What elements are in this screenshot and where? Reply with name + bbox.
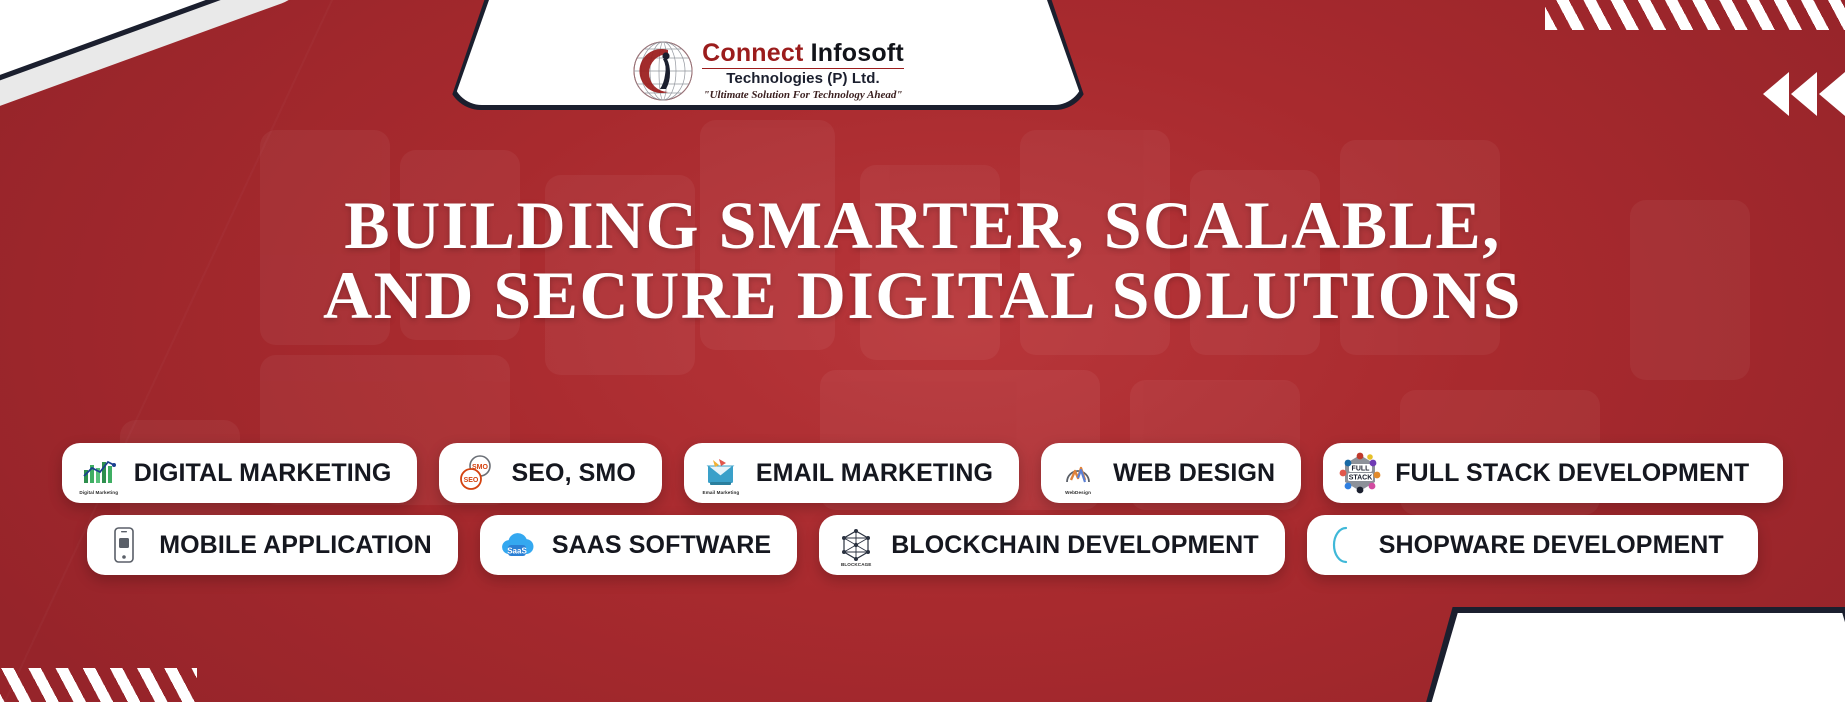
svg-text:FULL: FULL — [1352, 466, 1371, 473]
service-badge-blockchain-development[interactable]: BLOCKCAGE BLOCKCHAIN DEVELOPMENT — [819, 515, 1284, 575]
service-badge-full-stack-development[interactable]: FULL STACK FULL STACK DEVELOPM — [1323, 443, 1783, 503]
service-label: SHOPWARE DEVELOPMENT — [1379, 531, 1724, 560]
service-badges: Digital Marketing DIGITAL MARKETING SMO … — [0, 443, 1845, 575]
globe-logo-icon — [632, 40, 694, 102]
service-badge-mobile-application[interactable]: MOBILE APPLICATION — [87, 515, 458, 575]
svg-text:SEO: SEO — [464, 477, 479, 484]
diagonal-stripes-bottom-left — [0, 668, 197, 702]
promotional-banner: Connect Infosoft Technologies (P) Ltd. "… — [0, 0, 1845, 702]
chevron-left-icon — [1791, 72, 1817, 116]
service-label: SAAS SOFTWARE — [552, 531, 771, 560]
service-label: EMAIL MARKETING — [756, 459, 993, 488]
brand-subtitle: Technologies (P) Ltd. — [726, 70, 879, 87]
brand-name-part1: Connect — [702, 39, 803, 67]
service-label: FULL STACK DEVELOPMENT — [1395, 459, 1749, 488]
headline-line-2: AND SECURE DIGITAL SOLUTIONS — [0, 260, 1845, 330]
mobile-phone-app-icon — [103, 524, 145, 566]
diagonal-stripes-top-right — [1545, 0, 1845, 30]
brand-divider — [702, 68, 904, 70]
icon-caption: WebDesign — [1057, 490, 1099, 495]
logo-panel: Connect Infosoft Technologies (P) Ltd. "… — [447, 0, 1089, 110]
service-badge-shopware-development[interactable]: SHOPWARE DEVELOPMENT — [1307, 515, 1758, 575]
icon-caption: Digital Marketing — [78, 490, 120, 495]
service-badge-row-2: MOBILE APPLICATION SaaS SAAS SOFTWARE — [0, 515, 1845, 575]
seo-smo-badge-icon: SMO SEO — [455, 452, 497, 494]
page-title: BUILDING SMARTER, SCALABLE, AND SECURE D… — [0, 190, 1845, 330]
shopware-bracket-icon — [1323, 524, 1365, 566]
web-design-monitor-icon: WebDesign — [1057, 452, 1099, 494]
service-badge-web-design[interactable]: WebDesign WEB DESIGN — [1041, 443, 1301, 503]
icon-caption: Email Marketing — [700, 490, 742, 495]
service-badge-row-1: Digital Marketing DIGITAL MARKETING SMO … — [0, 443, 1845, 503]
service-label: MOBILE APPLICATION — [159, 531, 432, 560]
blockchain-network-icon: BLOCKCAGE — [835, 524, 877, 566]
full-stack-hexagon-icon: FULL STACK — [1339, 452, 1381, 494]
service-label: BLOCKCHAIN DEVELOPMENT — [891, 531, 1258, 560]
chevron-left-icon — [1763, 72, 1789, 116]
saas-cloud-icon: SaaS — [496, 524, 538, 566]
headline-line-1: BUILDING SMARTER, SCALABLE, — [344, 187, 1501, 263]
svg-text:SaaS: SaaS — [507, 546, 527, 555]
service-badge-seo-smo[interactable]: SMO SEO SEO, SMO — [439, 443, 661, 503]
service-label: DIGITAL MARKETING — [134, 459, 392, 488]
digital-marketing-chart-icon: Digital Marketing — [78, 452, 120, 494]
brand-name: Connect Infosoft — [702, 41, 904, 67]
email-marketing-envelope-icon: Email Marketing — [700, 452, 742, 494]
service-label: SEO, SMO — [511, 459, 635, 488]
bottom-right-white-panel — [1420, 613, 1845, 702]
service-label: WEB DESIGN — [1113, 459, 1275, 488]
chevron-left-icon — [1819, 72, 1845, 116]
brand-tagline: "Ultimate Solution For Technology Ahead" — [703, 89, 902, 101]
brand-name-part2: Infosoft — [811, 39, 904, 67]
service-badge-email-marketing[interactable]: Email Marketing EMAIL MARKETING — [684, 443, 1019, 503]
svg-text:STACK: STACK — [1349, 475, 1373, 482]
left-chevron-arrows — [1763, 72, 1845, 116]
icon-caption: BLOCKCAGE — [835, 562, 877, 567]
service-badge-saas-software[interactable]: SaaS SAAS SOFTWARE — [480, 515, 797, 575]
service-badge-digital-marketing[interactable]: Digital Marketing DIGITAL MARKETING — [62, 443, 418, 503]
